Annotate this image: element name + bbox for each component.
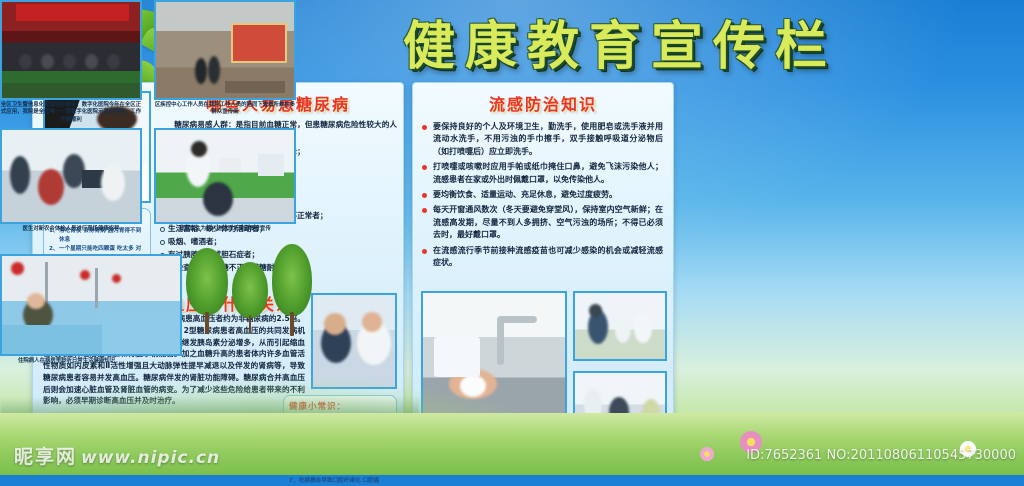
patient-consult-photo xyxy=(311,293,397,389)
list-item: 要保持良好的个人及环境卫生，勤洗手，使用肥皂或洗手液并用流动水洗手，不用污浊的手… xyxy=(421,121,663,158)
lab-examination-photo xyxy=(154,128,296,224)
flower-decoration xyxy=(700,447,714,461)
photo-caption: 区疾控中心工作人员在我院工作人员的陪同下查看所悬挂多群众宣传画 xyxy=(154,102,296,117)
photo-caption: 我院医生为病人进行现场健康教育宣传 xyxy=(154,226,296,233)
photo-caption: 住院病人在病房里聆听日常生活健康知识 xyxy=(0,358,182,365)
id-watermark: ID:7652361 NO:20110806110545730000 xyxy=(746,448,1016,463)
tree-decoration xyxy=(232,262,268,334)
photo-caption: 医生对新农合体检人员进行现场健康指导 xyxy=(0,226,142,233)
outdoor-signboard-photo xyxy=(154,0,296,100)
section-title-flu-prevention: 流感防治知识 xyxy=(413,91,673,115)
list-item: 在流感流行季节前接种流感疫苗也可减少感染的机会或减轻流感症状。 xyxy=(421,245,663,270)
list-item: 打喷嚏或咳嗽时应用手帕或纸巾掩住口鼻，避免飞沫污染他人；流感患者在家或外出时佩戴… xyxy=(421,161,663,186)
hospital-ward-photo xyxy=(0,254,182,356)
flu-prevention-list: 要保持良好的个人及环境卫生，勤洗手，使用肥皂或洗手液并用流动水洗手，不用污浊的手… xyxy=(421,121,663,269)
site-watermark: 昵享网www.nipic.cn xyxy=(14,442,220,469)
right-panel: 全区卫生暨信息化建设培训会议，数字化医院今年在全区正式应用，我院是全区唯一一家数… xyxy=(0,0,310,368)
page-title: 健康教育宣传栏 xyxy=(403,4,837,79)
bulletin-board: 健康教育宣传栏 哪些人易患糖尿病 糖尿病易感人群：是指目前血糖正常，但患糖尿病危… xyxy=(0,0,1024,475)
tree-decoration xyxy=(186,248,228,334)
photo-caption: 全区卫生暨信息化建设培训会议，数字化医院今年在全区正式应用，我院是全区唯一一家数… xyxy=(0,102,142,124)
site-name-cn: 昵享网 xyxy=(14,446,77,468)
list-item: 要均衡饮食、适量运动、充足休息，避免过度疲劳。 xyxy=(421,189,663,201)
tree-decoration xyxy=(272,244,312,336)
conference-photo xyxy=(0,0,142,100)
tips-item: 吃槟榔会导致口腔纤维化 口腔癌 xyxy=(289,477,391,486)
clinic-consult-photo xyxy=(0,128,142,224)
list-item: 每天开窗通风数次（冬天要避免穿堂风），保持室内空气新鲜；在流感高发期，尽量不到人… xyxy=(421,204,663,241)
site-url: www.nipic.cn xyxy=(81,448,220,468)
medical-staff-outdoor-photo xyxy=(573,291,667,361)
board-title-bar: 健康教育宣传栏 xyxy=(300,8,940,74)
